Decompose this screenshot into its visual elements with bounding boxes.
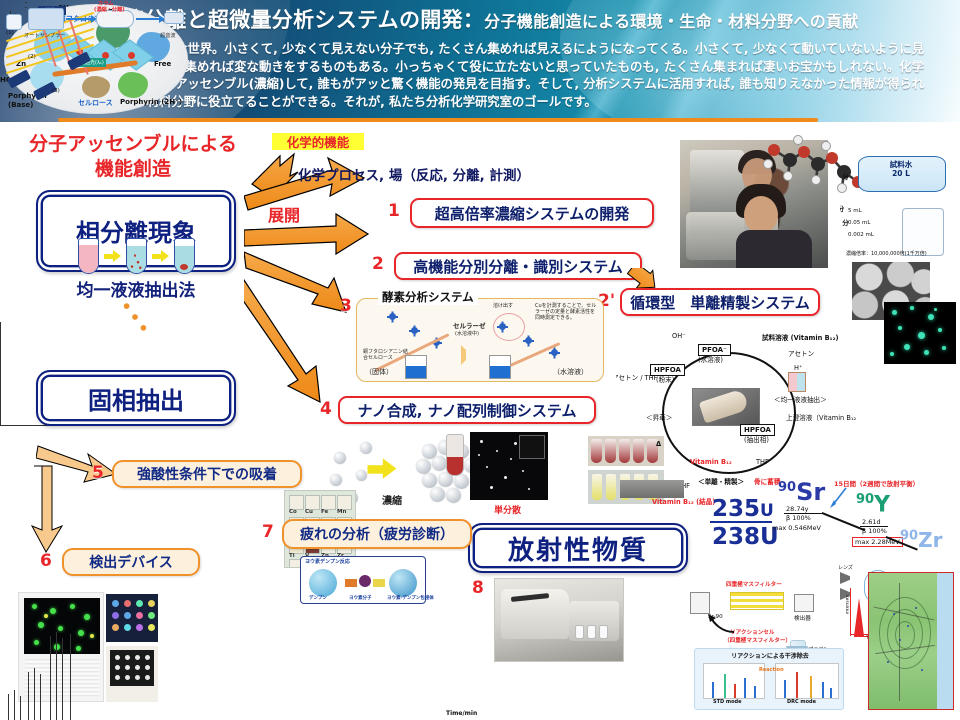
sample-vials <box>6 14 22 30</box>
enzyme-solid-label: （固体） <box>365 369 393 375</box>
sr90-halflife: 28.74y <box>786 505 808 513</box>
arrow-right-yellow-icon <box>104 250 121 262</box>
fatigue-chart-xaxis: Time/min <box>446 710 477 717</box>
cellulase-sublabel: (水溶液中) <box>455 331 479 337</box>
acetone-thf-label: アセトン / THF <box>616 372 657 382</box>
person2-body <box>736 230 812 268</box>
item-label-6: 検出デバイス <box>89 552 173 572</box>
detection-device-photo-1 <box>18 592 104 702</box>
detection-device-photo-2 <box>106 594 158 642</box>
reaction-interference-panel: リアクションによる干渉除去 STD mode DRC mode Reaction <box>694 648 844 710</box>
cu-complex-icon <box>523 335 534 346</box>
item-label-2prime: 循環型 単離精製システム <box>630 292 810 313</box>
nanoparticle-packed <box>422 473 437 488</box>
concentration-scheme: 試料水 20 L 操作時間 10 分 3 分 30 分 5 mL 0.05 mL… <box>840 150 952 260</box>
iodine-molecule <box>359 575 371 587</box>
nanoparticle <box>356 470 367 481</box>
ultrasonic-label: 超音波 <box>160 32 176 39</box>
supernatant-label: 上澄溶液（Vitamin B₁₂以外） <box>786 412 856 422</box>
item-box-2[interactable]: 高機能分別分離・識別システム <box>394 252 642 280</box>
sample-tube-solid <box>405 355 427 379</box>
enzyme-analysis-title: 酵素分析システム <box>378 289 478 305</box>
tank-label-line1: 試料水 <box>890 160 913 169</box>
lens-label: レンズ <box>838 564 853 571</box>
inlet-box <box>690 592 710 614</box>
hpfoa-powder-sub: (粉末) <box>656 374 674 384</box>
complex-label: ヨウ素-デンプン包接体 <box>387 595 434 601</box>
enzyme-dissolve-label: 溶け出す <box>493 303 513 309</box>
porphyrin-2h-label: Porphyrin (2H⁺) <box>120 98 182 106</box>
test-tube-cloudy <box>126 238 147 274</box>
volume-label-2: 0.05 mL <box>848 220 870 226</box>
starch-label: デンプン <box>309 595 327 601</box>
cellulose-label: セルロース <box>78 98 113 108</box>
nanoparticle-packed <box>432 456 447 471</box>
sea-area <box>937 573 953 710</box>
nanoparticle-packed <box>430 487 445 502</box>
item-number-5: 5 <box>92 463 104 483</box>
deployment-label: 展開 <box>268 202 300 226</box>
sample-solution-label: 試料溶液 (Vitamin B₁₂) <box>762 332 838 342</box>
zr90-label: 90Zr <box>900 528 942 552</box>
hpfoa-extract-sub: (抽出相) <box>744 434 769 444</box>
curved-arrow-icon <box>706 614 736 634</box>
tank-label-line2: 20 L <box>892 169 910 178</box>
blue-arrow-icon <box>828 486 850 510</box>
cycle-tube-photo <box>692 388 760 426</box>
series-label-1: (1) <box>6 30 14 36</box>
item-box-2prime[interactable]: 循環型 単離精製システム <box>620 288 820 316</box>
porphyrin-base-line2: (Base) <box>8 101 33 109</box>
detector-box <box>794 594 814 612</box>
b12-crystal-photo <box>620 480 684 498</box>
left-heading: 分子アッセンブルによる 機能創造 <box>8 132 258 182</box>
item-label-2: 高機能分別分離・識別システム <box>413 256 623 277</box>
time-label-2: 3 分 <box>840 203 844 213</box>
phase-separation-tubes <box>46 236 226 276</box>
free-label: Free <box>154 60 171 68</box>
item-label-4: ナノ合成, ナノ配列制御システム <box>358 400 577 421</box>
drc-mode-plot <box>775 663 839 699</box>
y90-beta: β 100% <box>862 527 887 535</box>
sr90-label: 90Sr <box>778 478 825 506</box>
autosampler-box <box>28 8 64 30</box>
nanoparticle <box>330 474 342 486</box>
reaction-panel-title: リアクションによる干渉除去 <box>695 651 844 660</box>
nanoparticle <box>334 452 346 464</box>
monodisperse-label: 単分散 <box>494 503 521 516</box>
enzyme-analysis-panel: 溶け出す Cuを計測することで、セルラーゼの定量と酵素活性を同時測定できる。 銅… <box>356 298 604 382</box>
tem-inset <box>519 435 545 459</box>
oh-label: OH⁻ <box>672 332 686 340</box>
solid-phase-extraction-label: 固相抽出 <box>88 381 184 416</box>
quadrupole-mass-filter-diagram: 四重極マスフィルター 検出器 Sr-90 リアクションセル （四重極マスフィルタ… <box>690 570 840 650</box>
vitamin-b12-label: Vitamin B₁₂ <box>690 458 732 466</box>
complex-sphere <box>389 569 417 597</box>
dissolve-highlight <box>493 313 525 341</box>
sublimation-label: ＜昇華＞ <box>646 412 672 422</box>
concentration-label: 濃縮 <box>382 492 402 507</box>
poster-canvas: 濃縮分離と超微量分析システムの開発：分子機能創造による環境・生命・材料分野への貢… <box>0 0 960 720</box>
isolation-purification-label: ＜単離・精製＞ <box>698 476 744 486</box>
u238-label: 238U <box>712 524 779 550</box>
arrow-right-icon <box>244 214 368 254</box>
delta-label: Δ <box>656 440 661 448</box>
volume-label-1: 5 mL <box>848 208 862 214</box>
item-number-8: 8 <box>472 578 484 598</box>
item-number-7: 7 <box>262 522 274 542</box>
test-tube-pink <box>78 238 99 274</box>
chemical-function-tag: 化学的機能 <box>272 133 364 150</box>
std-mode-plot <box>703 663 765 699</box>
iodine-starch-panel: ヨウ素デンプン反応 デンプン ヨウ素分子 ヨウ素-デンプン包接体 <box>300 556 426 604</box>
series-label-3: (3) <box>52 88 60 94</box>
sr90-energy: max 0.546MeV <box>772 524 821 532</box>
icpms-instrument-photo <box>494 578 624 662</box>
red-vial-photo <box>446 434 464 476</box>
reaction-arrow-label: Reaction <box>759 667 784 673</box>
detection-device-photo-3 <box>106 646 158 702</box>
cu-complex-icon <box>387 311 398 322</box>
item-label-7: 疲れの分析（疲労診断） <box>300 524 454 544</box>
quad-filter-label: 四重極マスフィルター <box>726 580 782 588</box>
sample-tube-aqueous <box>489 355 511 379</box>
item-number-2: 2 <box>372 254 384 274</box>
arrow-right-yellow-icon <box>152 250 169 262</box>
fluorescence-image <box>884 302 956 364</box>
item-number-3: 3 <box>340 296 352 316</box>
drc-mode-label: DRC mode <box>787 699 816 705</box>
sample-water-labels: 試料水 20 L <box>858 160 944 178</box>
item-box-5[interactable]: 強酸性条件下での吸着 <box>112 460 302 488</box>
homogeneous-extraction-label: 均一液液抽出法 <box>36 276 236 301</box>
sr90-beta: β 100% <box>786 514 811 522</box>
arrow-right-yellow-icon <box>373 579 385 587</box>
item-box-7[interactable]: 疲れの分析（疲労診断） <box>282 519 472 549</box>
enzyme-note: Cuを計測することで、セルラーゼの定量と酵素活性を同時測定できる。 <box>535 303 599 321</box>
std-mode-label: STD mode <box>713 699 742 705</box>
item-box-6[interactable]: 検出デバイス <box>62 548 200 576</box>
u235-label: 235U <box>712 496 774 522</box>
arrow-right-cream-icon <box>461 345 480 365</box>
quadrupole-rods <box>730 592 784 610</box>
volume-label-3: 0.002 mL <box>848 232 874 238</box>
column-sublabel: (濃縮・分離) <box>94 6 125 13</box>
starch-sphere <box>309 569 337 597</box>
y90-halflife: 2.61d <box>862 518 881 526</box>
test-tube-clear <box>174 238 195 274</box>
item-number-6: 6 <box>40 551 52 571</box>
arrow-right-orange-icon <box>345 579 357 587</box>
iodine-starch-title: ヨウ素デンプン反応 <box>305 558 350 565</box>
time-label-1: 10 分 <box>840 171 849 181</box>
iodine-label: ヨウ素分子 <box>349 595 372 601</box>
arrow-to-item6-icon <box>28 464 88 556</box>
item-number-4: 4 <box>320 399 332 419</box>
item-number-1: 1 <box>388 201 400 221</box>
item-box-1[interactable]: 超高倍率濃縮システムの開発 <box>410 198 654 228</box>
detector-label: 検出器 <box>794 614 811 622</box>
nanoparticle-packed <box>454 474 469 489</box>
nanoparticle-packed <box>446 488 461 503</box>
bone-accumulation-label: 骨に蓄積 <box>754 476 780 486</box>
arrow-down-right-long-icon <box>244 280 320 402</box>
two-tube-icon <box>788 372 806 392</box>
autosampler-label: オートサンプラー <box>24 32 65 39</box>
arrow-right-yellow-icon <box>368 458 419 485</box>
intensity-axis-label: Intensity <box>846 595 850 615</box>
item-label-1: 超高倍率濃縮システムの開発 <box>435 203 630 224</box>
vial-detail-box <box>902 208 944 256</box>
concentration-ratio-note: 濃縮倍率：10,000,000倍(1千万倍) <box>846 250 927 257</box>
sr90-peak <box>854 598 864 636</box>
radioactive-material-box[interactable]: 放射性物質 <box>468 523 688 573</box>
tem-image <box>470 432 548 500</box>
cu-complex-icon <box>409 325 420 336</box>
chemical-process-label: 化学プロセス, 場（反応, 分離, 計測） <box>298 164 530 184</box>
y90-energy-box: max 2.28MeV <box>852 537 903 547</box>
series-label-2: (2) <box>28 54 36 60</box>
nanoparticle <box>360 442 372 454</box>
cellulase-label: セルラーゼ <box>453 323 486 329</box>
page-title-sub: 分子機能創造による環境・生命・材料分野への貢献 <box>484 12 858 31</box>
thf-label: THF <box>756 458 769 466</box>
header-divider <box>58 118 818 122</box>
ultrasonic-box <box>164 12 184 24</box>
item-label-5: 強酸性条件下での吸着 <box>137 464 277 484</box>
acetone-label: アセトン <box>788 348 814 358</box>
enzyme-aqueous-label: （水溶液） <box>553 369 588 375</box>
radioactive-material-label: 放射性物質 <box>508 530 648 567</box>
enzyme-material-label: 銅フタロシアニン結合セルロース <box>363 349 409 361</box>
metal-center <box>128 52 135 59</box>
left-heading-line1: 分子アッセンブルによる <box>8 132 258 157</box>
dotted-connector <box>120 300 150 334</box>
fan-arrows <box>244 152 384 432</box>
nanoparticle-packed <box>416 459 431 474</box>
item-box-4[interactable]: ナノ合成, ナノ配列制御システム <box>338 396 596 424</box>
reaction-cell-sublabel: （四重極マスフィルター） <box>724 636 791 644</box>
solid-phase-extraction-box[interactable]: 固相抽出 <box>36 370 236 426</box>
pfoa-sub: (水溶液) <box>698 354 723 364</box>
homogeneous-extraction-label: ＜均一液液抽出＞ <box>774 394 827 404</box>
h-plus-label: H⁺ <box>794 364 802 372</box>
reaction-cell-label: リアクションセル <box>730 628 774 636</box>
y90-label: 90Y <box>856 492 890 517</box>
contamination-map <box>868 572 954 710</box>
left-heading-line2: 機能創造 <box>8 157 258 182</box>
